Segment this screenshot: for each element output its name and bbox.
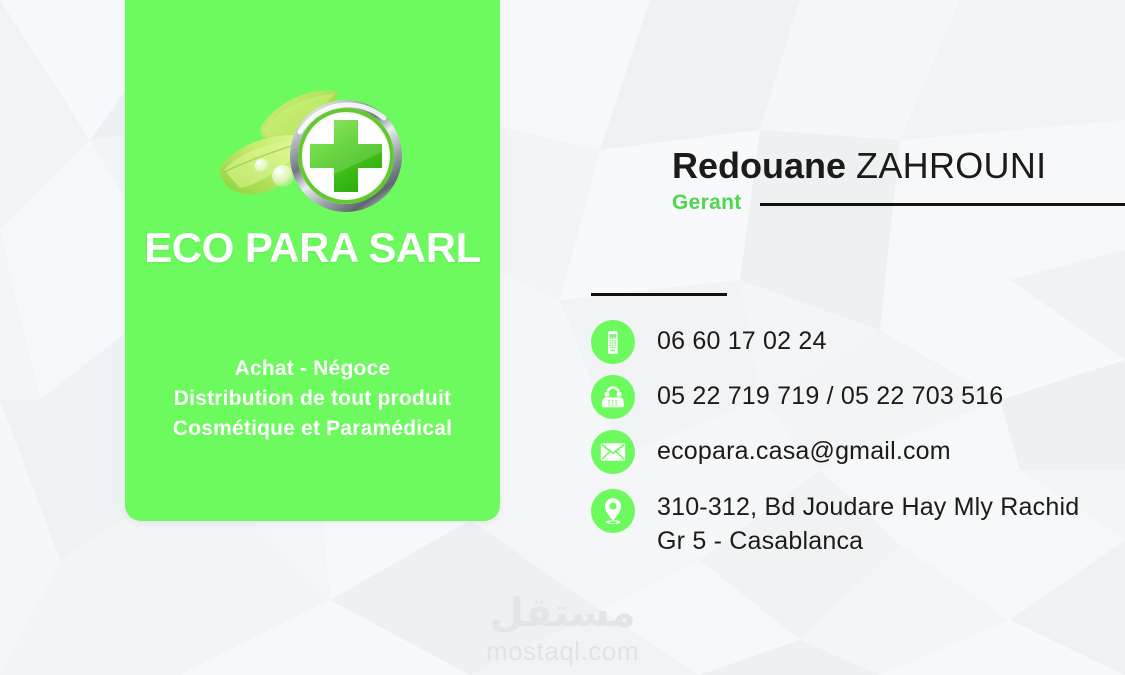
address-line-1: 310-312, Bd Joudare Hay Mly Rachid [657,490,1079,524]
contact-panel: Redouane ZAHROUNI Gerant [0,0,1125,675]
email-address: ecopara.casa@gmail.com [657,430,951,466]
mobile-phone-icon [591,320,635,364]
contact-row-address[interactable]: 310-312, Bd Joudare Hay Mly Rachid Gr 5 … [591,489,1079,558]
business-card: ECO PARA SARL Achat - Négoce Distributio… [0,0,1125,675]
envelope-icon [591,430,635,474]
postal-address: 310-312, Bd Joudare Hay Mly Rachid Gr 5 … [657,489,1079,558]
person-name: Redouane ZAHROUNI [672,145,1046,187]
contact-row-phone[interactable]: 05 22 719 719 / 05 22 703 516 [591,375,1003,419]
landline-phone-icon [591,375,635,419]
address-line-2: Gr 5 - Casablanca [657,524,1079,558]
map-pin-icon [591,489,635,533]
mobile-number: 06 60 17 02 24 [657,320,827,356]
contact-row-mobile[interactable]: 06 60 17 02 24 [591,320,827,364]
contact-row-email[interactable]: ecopara.casa@gmail.com [591,430,951,474]
contact-section-divider-rule [591,293,727,296]
person-first-name: Redouane [672,145,846,186]
person-job-title: Gerant [672,191,742,215]
phone-number: 05 22 719 719 / 05 22 703 516 [657,375,1003,411]
person-last-name: ZAHROUNI [856,145,1046,186]
title-divider-rule [760,203,1125,206]
